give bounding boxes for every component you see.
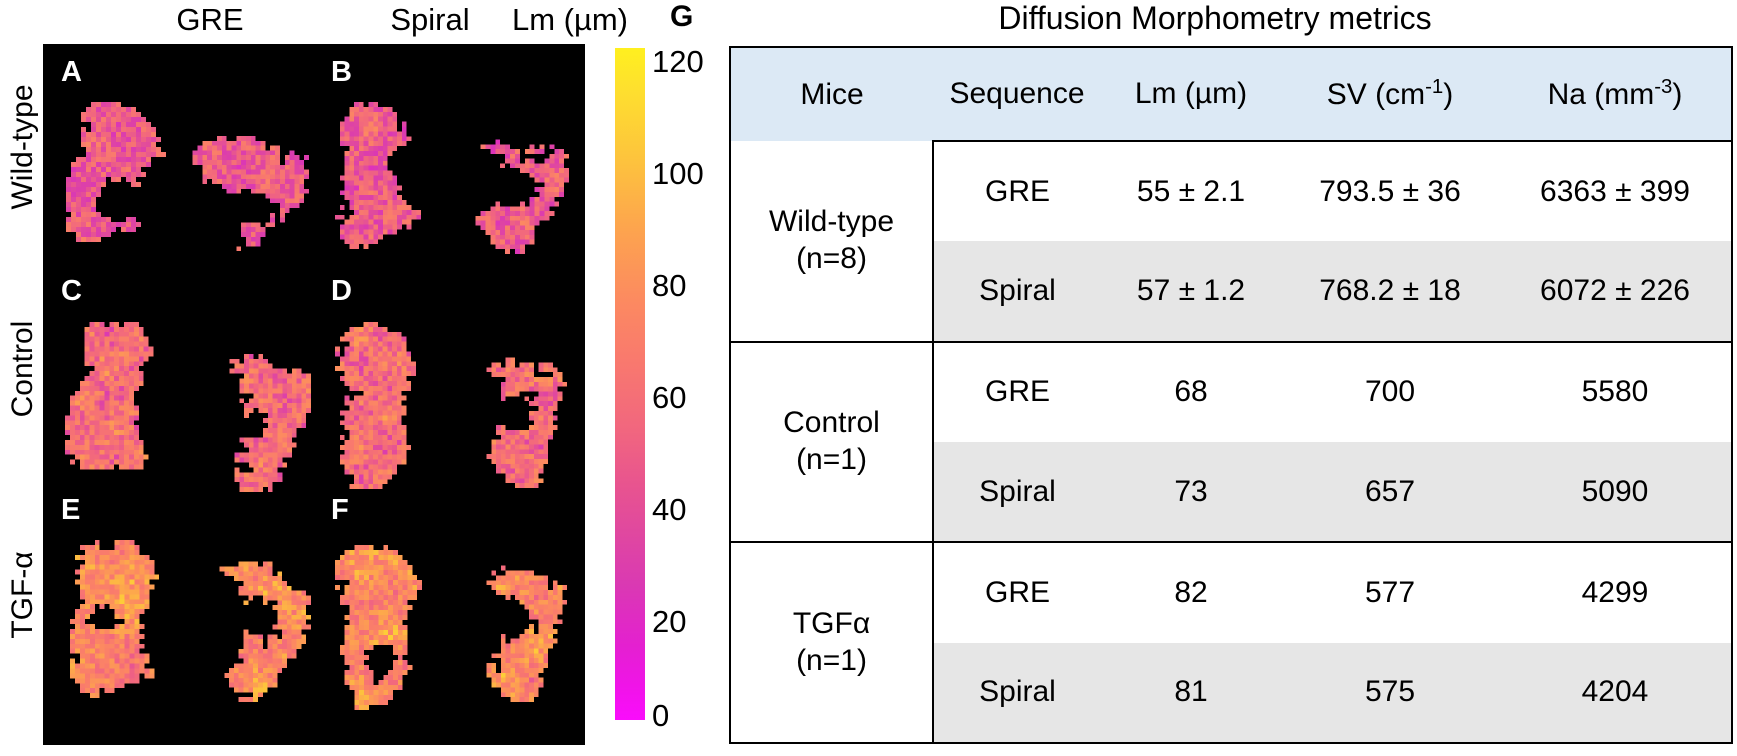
cell-sequence: Spiral <box>933 442 1101 542</box>
cell-lm: 82 <box>1101 542 1281 642</box>
lung-map-d-right <box>463 348 567 488</box>
row-label-tgf-alpha: TGF-α <box>6 510 40 680</box>
table-body: Wild-type (n=8) GRE 55 ± 2.1 793.5 ± 36 … <box>730 141 1732 743</box>
cell-na: 6072 ± 226 <box>1499 241 1732 341</box>
cell-sv: 793.5 ± 36 <box>1281 141 1499 241</box>
metrics-panel: G Diffusion Morphometry metrics Mice Seq… <box>650 0 1737 756</box>
table-title: Diffusion Morphometry metrics <box>705 0 1725 37</box>
cell-lm: 57 ± 1.2 <box>1101 241 1281 341</box>
row-label-wild-type: Wild-type <box>6 62 40 232</box>
cell-na: 5090 <box>1499 442 1732 542</box>
cell-sequence: Spiral <box>933 241 1101 341</box>
lung-map-c-left <box>65 322 183 494</box>
lung-map-c-right <box>201 344 311 492</box>
mice-label-line1: Wild-type <box>731 204 932 241</box>
cell-sv: 768.2 ± 18 <box>1281 241 1499 341</box>
panel-letter-d: D <box>331 277 352 306</box>
lung-map-b-left <box>335 102 445 254</box>
header-lm: Lm (µm) <box>1101 47 1281 141</box>
table-row: Control (n=1) GRE 68 700 5580 <box>730 342 1732 442</box>
cell-sv: 700 <box>1281 342 1499 442</box>
lung-map-e-left <box>65 540 189 708</box>
mice-label-line1: Control <box>731 405 932 442</box>
lung-map-a-left <box>61 102 191 252</box>
cell-sv: 657 <box>1281 442 1499 542</box>
cell-sequence: GRE <box>933 141 1101 241</box>
cell-lm: 55 ± 2.1 <box>1101 141 1281 241</box>
lung-map-grid: ABCDEF <box>43 44 585 745</box>
cell-lm: 73 <box>1101 442 1281 542</box>
cell-na: 6363 ± 399 <box>1499 141 1732 241</box>
header-na-base: Na (mm <box>1548 78 1655 111</box>
cell-na: 5580 <box>1499 342 1732 442</box>
mice-label-line2: (n=1) <box>731 643 932 680</box>
lung-map-d-left <box>335 322 449 494</box>
figure-root: GRE Spiral Lm (µm) Wild-type Control TGF… <box>0 0 1737 756</box>
lung-map-f-right <box>463 556 567 702</box>
lung-map-a-right <box>183 136 309 256</box>
header-sv-exponent: -1 <box>1425 76 1443 98</box>
mice-label-line2: (n=1) <box>731 442 932 479</box>
cell-lm: 68 <box>1101 342 1281 442</box>
cell-sequence: GRE <box>933 542 1101 642</box>
cell-sequence: Spiral <box>933 643 1101 743</box>
header-na-exponent: -3 <box>1654 76 1672 98</box>
header-sv: SV (cm-1) <box>1281 47 1499 141</box>
mice-label-line2: (n=8) <box>731 241 932 278</box>
table-row: TGFα (n=1) GRE 82 577 4299 <box>730 542 1732 642</box>
row-label-control: Control <box>6 284 40 454</box>
mice-cell-tgf-alpha: TGFα (n=1) <box>730 542 933 743</box>
colorbar-gradient <box>615 48 645 720</box>
table-row: Wild-type (n=8) GRE 55 ± 2.1 793.5 ± 36 … <box>730 141 1732 241</box>
lung-map-b-right <box>451 130 569 254</box>
cell-sv: 575 <box>1281 643 1499 743</box>
imaging-panel: GRE Spiral Lm (µm) Wild-type Control TGF… <box>0 0 650 756</box>
table-header-row: Mice Sequence Lm (µm) SV (cm-1) Na (mm-3… <box>730 47 1732 141</box>
panel-letter-e: E <box>61 496 80 525</box>
lung-map-f-left <box>335 540 451 710</box>
header-na: Na (mm-3) <box>1499 47 1732 141</box>
panel-letter-g: G <box>670 2 693 32</box>
panel-letter-a: A <box>61 58 82 87</box>
header-mice: Mice <box>730 47 933 141</box>
cell-na: 4204 <box>1499 643 1732 743</box>
header-sequence: Sequence <box>933 47 1101 141</box>
cell-na: 4299 <box>1499 542 1732 642</box>
header-na-close: ) <box>1672 78 1682 111</box>
header-sv-base: SV (cm <box>1327 78 1425 111</box>
mice-cell-wild-type: Wild-type (n=8) <box>730 141 933 342</box>
lung-map-e-right <box>205 552 311 702</box>
colorbar <box>615 48 645 720</box>
diffusion-morphometry-table: Mice Sequence Lm (µm) SV (cm-1) Na (mm-3… <box>729 46 1733 744</box>
cell-sv: 577 <box>1281 542 1499 642</box>
colorbar-title: Lm (µm) <box>512 2 660 38</box>
mice-cell-control: Control (n=1) <box>730 342 933 543</box>
cell-sequence: GRE <box>933 342 1101 442</box>
panel-letter-b: B <box>331 58 352 87</box>
panel-letter-c: C <box>61 277 82 306</box>
column-header-gre: GRE <box>110 2 310 38</box>
panel-letter-f: F <box>331 496 349 525</box>
cell-lm: 81 <box>1101 643 1281 743</box>
column-header-spiral: Spiral <box>330 2 530 38</box>
mice-label-line1: TGFα <box>731 606 932 643</box>
header-sv-close: ) <box>1443 78 1453 111</box>
